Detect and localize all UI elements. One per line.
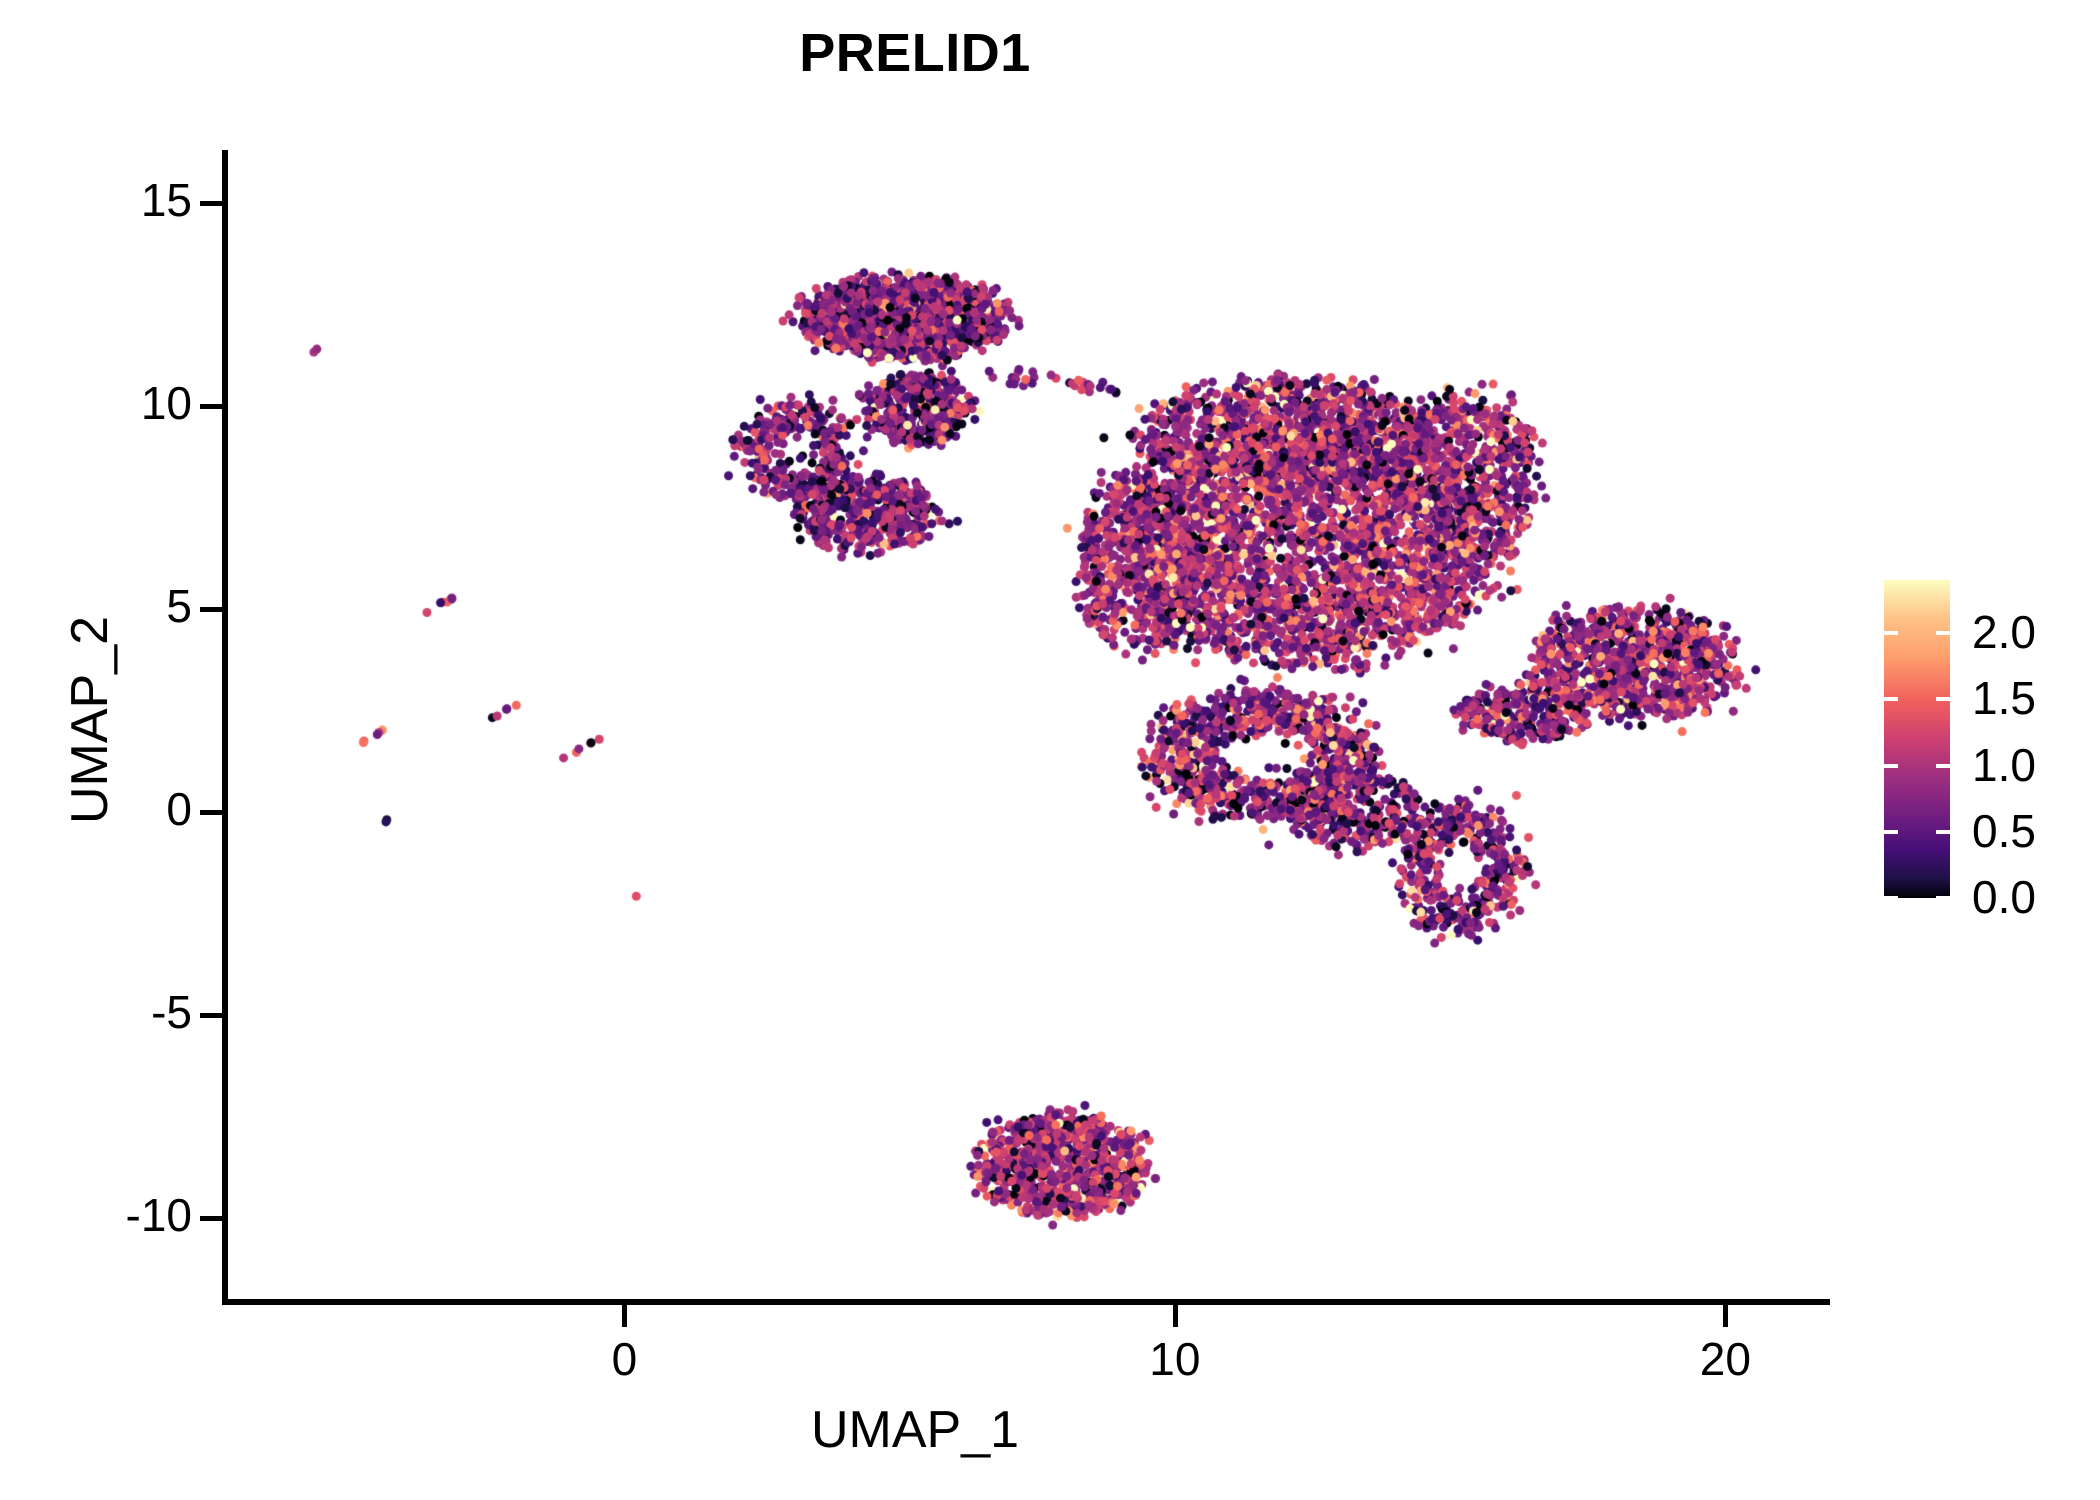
x-tick-label: 0 — [612, 1332, 638, 1386]
scatter-panel — [228, 150, 1830, 1299]
y-tick-mark — [200, 1013, 222, 1018]
y-tick-mark — [200, 1216, 222, 1221]
colorbar-tick-label: 0.0 — [1972, 870, 2036, 924]
y-tick-label: 15 — [141, 173, 192, 227]
y-tick-mark — [200, 810, 222, 815]
colorbar-tick-label: 0.5 — [1972, 804, 2036, 858]
x-tick-mark — [1723, 1305, 1728, 1327]
y-tick-label: 0 — [166, 782, 192, 836]
colorbar-tick — [1936, 697, 1950, 701]
colorbar-tick — [1936, 631, 1950, 635]
colorbar-tick-label: 1.5 — [1972, 671, 2036, 725]
colorbar-tick — [1884, 830, 1898, 834]
y-tick-mark — [200, 201, 222, 206]
scatter-points-canvas — [228, 150, 1830, 1299]
y-tick-label: 5 — [166, 579, 192, 633]
y-tick-mark — [200, 404, 222, 409]
colorbar-tick — [1936, 764, 1950, 768]
page-title: PRELID1 — [0, 22, 1830, 84]
colorbar-tick — [1936, 896, 1950, 900]
x-tick-mark — [622, 1305, 627, 1327]
x-axis-label: UMAP_1 — [0, 1400, 1830, 1460]
colorbar-gradient — [1884, 580, 1950, 898]
y-tick-mark — [200, 607, 222, 612]
y-tick-label: -5 — [151, 985, 192, 1039]
x-tick-label: 20 — [1700, 1332, 1751, 1386]
umap-feature-plot: PRELID1 -10-5051015 01020 UMAP_1 UMAP_2 … — [0, 0, 2100, 1500]
colorbar-tick — [1884, 764, 1898, 768]
colorbar-tick — [1884, 631, 1898, 635]
y-axis-label: UMAP_2 — [60, 370, 120, 1070]
colorbar-tick — [1936, 830, 1950, 834]
colorbar-legend: 0.00.51.01.52.0 — [1884, 580, 2084, 900]
y-tick-label: -10 — [126, 1188, 192, 1242]
colorbar-tick — [1884, 697, 1898, 701]
y-tick-label: 10 — [141, 376, 192, 430]
colorbar-tick-label: 2.0 — [1972, 605, 2036, 659]
colorbar-tick — [1884, 896, 1898, 900]
x-axis-line — [222, 1299, 1830, 1305]
x-tick-mark — [1173, 1305, 1178, 1327]
colorbar-tick-label: 1.0 — [1972, 738, 2036, 792]
x-tick-label: 10 — [1149, 1332, 1200, 1386]
